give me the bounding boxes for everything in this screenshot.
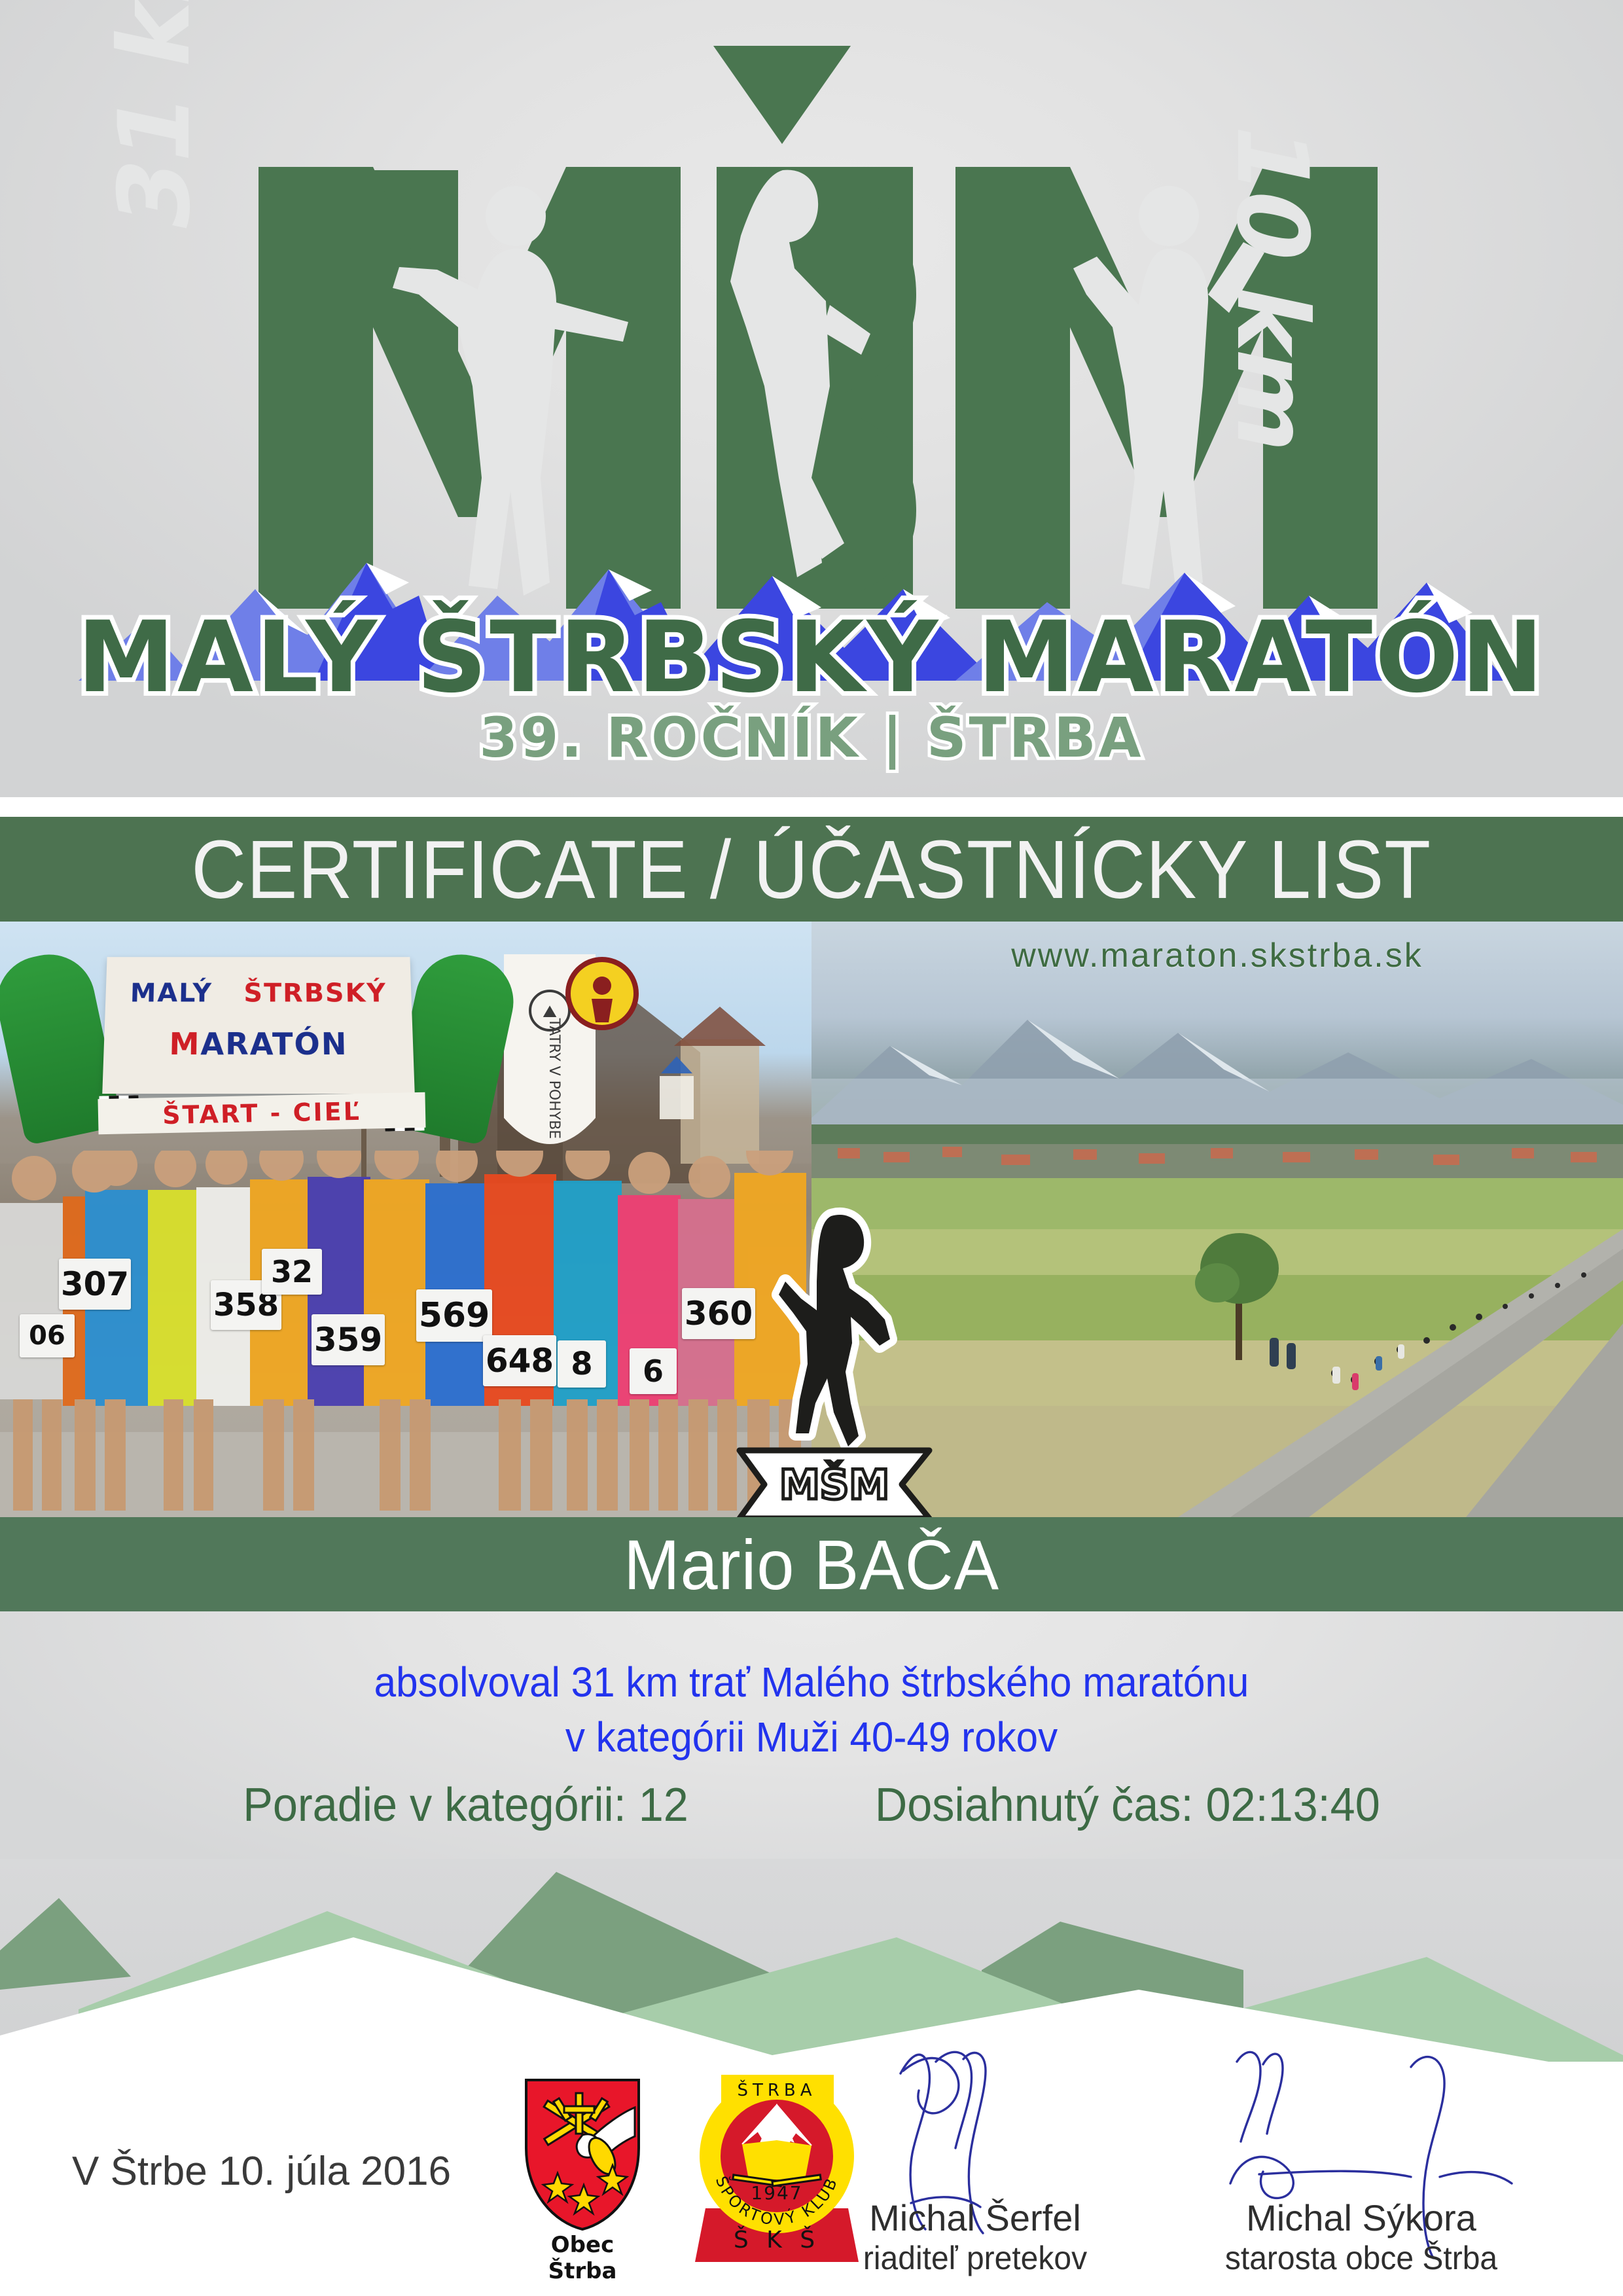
arch-word-strbsky: ŠTRBSKÝ [243, 978, 387, 1008]
start-finish-text: ŠTART - CIEĽ [162, 1097, 362, 1130]
start-finish-banner: ŠTART - CIEĽ [98, 1092, 425, 1134]
round-sign [563, 954, 641, 1033]
signature-role-2: starosta obce Štrba [1166, 2239, 1556, 2277]
flag-text: TATRY V POHYBE [546, 1018, 562, 1139]
club-top-text: ŠTRBA [737, 2079, 816, 2100]
achievement-line-1: absolvoval 31 km trať Malého štrbského m… [48, 1655, 1574, 1710]
msm-wordmark-group: 31 km 10 km [0, 20, 1623, 609]
participant-name: Mario BAČA [624, 1524, 999, 1605]
bib-number: 6 [630, 1348, 677, 1394]
website-url[interactable]: www.maraton.skstrba.sk [811, 936, 1623, 975]
bib-number: 307 [59, 1259, 131, 1310]
obec-strba-shield [517, 2076, 648, 2233]
bib-number: 06 [20, 1314, 75, 1357]
event-subtitle: 39. ROČNÍK | ŠTRBA [0, 710, 1623, 765]
result-values: Poradie v kategórii: 12 Dosiahnutý čas: … [41, 1778, 1582, 1832]
bib-number: 648 [483, 1335, 556, 1386]
result-body: absolvoval 31 km trať Malého štrbského m… [0, 1611, 1623, 1886]
photo-strip: ⛰ TATRY V POHYBE MALÝ ŠTRBSKÝ [0, 922, 1623, 1517]
msm-logo-svg [0, 20, 1623, 609]
club-year: 1947 [751, 2182, 802, 2204]
certificate-heading-bar: CERTIFICATE / ÚČASTNÍCKY LIST [0, 817, 1623, 922]
certificate-page: 31 km 10 km [0, 0, 1623, 2296]
municipality-crest: Obec Štrba [517, 2076, 648, 2259]
distance-left-label: 31 km [98, 0, 212, 240]
badge-text: MŠM [779, 1461, 889, 1509]
achievement-line-2: v kategórii Muži 40-49 rokov [48, 1710, 1574, 1765]
bib-number: 359 [312, 1314, 385, 1365]
achievement-description: absolvoval 31 km trať Malého štrbského m… [48, 1655, 1574, 1765]
start-arch: MALÝ ŠTRBSKÝ MARATÓN ŠTART - CIEĽ [7, 941, 504, 1157]
event-title: MALÝ ŠTRBSKÝ MARATÓN [0, 609, 1623, 707]
distance-right-label: 10 km [1215, 113, 1329, 463]
arch-word-maly: MALÝ [130, 978, 213, 1008]
municipality-crest-label: Obec Štrba [517, 2232, 648, 2284]
bib-number: 8 [558, 1340, 606, 1388]
finish-time: Dosiahnutý čas: 02:13:40 [875, 1778, 1380, 1832]
signature-name-1: Michal Šerfel [805, 2197, 1145, 2239]
signature-block-1: Michal Šerfel riaditeľ pretekov [805, 2197, 1145, 2277]
arch-title-line1: MALÝ ŠTRBSKÝ [105, 978, 412, 1008]
signature-block-2: Michal Sýkora starosta obce Štrba [1158, 2197, 1564, 2277]
logo-header-panel: 31 km 10 km [0, 0, 1623, 797]
participant-name-band: Mario BAČA [0, 1517, 1623, 1611]
arch-title-line2: MARATÓN [103, 1026, 414, 1062]
signature-name-2: Michal Sýkora [1158, 2197, 1564, 2239]
issue-date: V Štrbe 10. júla 2016 [72, 2148, 451, 2195]
arch-banner: MALÝ ŠTRBSKÝ MARATÓN [102, 957, 414, 1094]
signature-role-1: riaditeľ pretekov [811, 2239, 1138, 2277]
certificate-heading-text: CERTIFICATE / ÚČASTNÍCKY LIST [192, 822, 1432, 917]
photo-start-line: ⛰ TATRY V POHYBE MALÝ ŠTRBSKÝ [0, 922, 811, 1517]
certificate-footer: V Štrbe 10. júla 2016 [0, 2062, 1623, 2296]
bib-number: 569 [416, 1289, 492, 1342]
bib-number: 32 [262, 1249, 322, 1295]
category-rank: Poradie v kategórii: 12 [243, 1778, 688, 1832]
msm-runner-badge: MŠM [733, 1203, 936, 1517]
